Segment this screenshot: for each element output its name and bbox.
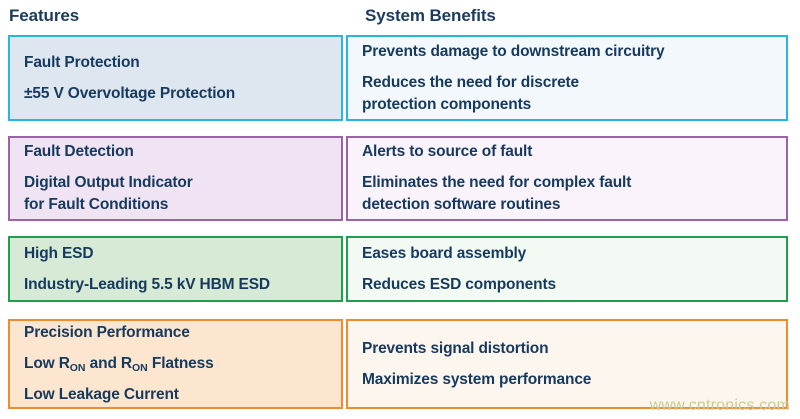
ron-text-post: Flatness	[148, 355, 214, 372]
ron-text-mid: and R	[86, 355, 132, 372]
feature-title: Precision Performance	[10, 322, 341, 344]
benefit-item-line: detection software routines	[348, 194, 786, 216]
table-row: Precision Performance Low RON and RON Fl…	[0, 319, 800, 409]
benefit-item: Prevents damage to downstream circuitry	[348, 41, 786, 63]
feature-detail: ±55 V Overvoltage Protection	[10, 83, 341, 105]
table-row: Fault Protection ±55 V Overvoltage Prote…	[0, 35, 800, 121]
benefit-cell-fault-protection: Prevents damage to downstream circuitry …	[346, 35, 788, 121]
benefit-item: Reduces ESD components	[348, 274, 786, 296]
benefit-item: Alerts to source of fault	[348, 141, 786, 163]
benefit-item: Prevents signal distortion	[348, 338, 786, 360]
ron-text-pre: Low R	[24, 355, 70, 372]
table-row: High ESD Industry-Leading 5.5 kV HBM ESD…	[0, 236, 800, 302]
feature-detail: Low Leakage Current	[10, 384, 341, 406]
benefit-item: Eliminates the need for complex fault de…	[348, 172, 786, 216]
column-headers: Features System Benefits	[0, 0, 800, 33]
feature-title: Fault Detection	[10, 141, 341, 163]
benefit-item-line: Eliminates the need for complex fault	[348, 172, 786, 194]
benefit-item-line: Reduces the need for discrete	[348, 72, 786, 94]
feature-detail: Industry-Leading 5.5 kV HBM ESD	[10, 274, 341, 296]
feature-detail-line: Digital Output Indicator	[10, 172, 341, 194]
ron-subscript: ON	[70, 362, 86, 374]
feature-cell-fault-detection: Fault Detection Digital Output Indicator…	[8, 136, 343, 221]
feature-detail: Digital Output Indicator for Fault Condi…	[10, 172, 341, 216]
feature-detail-ron: Low RON and RON Flatness	[10, 353, 341, 375]
feature-title: High ESD	[10, 243, 341, 265]
benefit-cell-fault-detection: Alerts to source of fault Eliminates the…	[346, 136, 788, 221]
feature-cell-precision-performance: Precision Performance Low RON and RON Fl…	[8, 319, 343, 409]
column-header-system-benefits: System Benefits	[365, 6, 496, 26]
feature-title: Fault Protection	[10, 52, 341, 74]
feature-cell-high-esd: High ESD Industry-Leading 5.5 kV HBM ESD	[8, 236, 343, 302]
column-header-features: Features	[9, 6, 79, 26]
feature-cell-fault-protection: Fault Protection ±55 V Overvoltage Prote…	[8, 35, 343, 121]
benefit-item: Reduces the need for discrete protection…	[348, 72, 786, 116]
features-benefits-table: Features System Benefits Fault Protectio…	[0, 0, 800, 419]
benefit-item: Maximizes system performance	[348, 369, 786, 391]
benefit-item-line: protection components	[348, 94, 786, 116]
benefit-cell-precision-performance: Prevents signal distortion Maximizes sys…	[346, 319, 788, 409]
feature-detail-line: for Fault Conditions	[10, 194, 341, 216]
ron-subscript: ON	[132, 362, 148, 374]
benefit-item: Eases board assembly	[348, 243, 786, 265]
benefit-cell-high-esd: Eases board assembly Reduces ESD compone…	[346, 236, 788, 302]
table-row: Fault Detection Digital Output Indicator…	[0, 136, 800, 221]
